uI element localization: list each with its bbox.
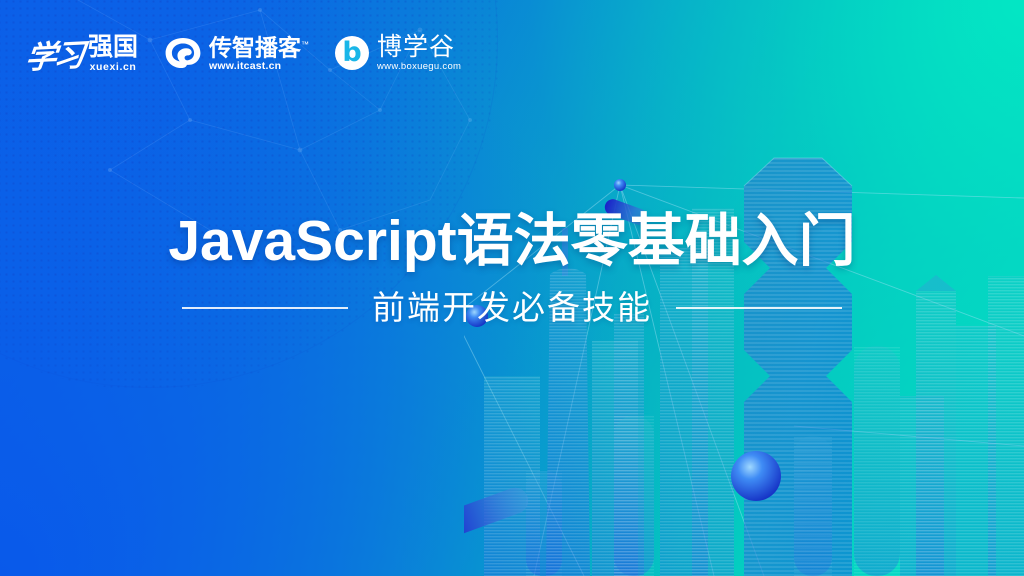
- page-title: JavaScript语法零基础入门: [0, 206, 1024, 276]
- rule-left: [182, 307, 348, 309]
- page-subtitle: 前端开发必备技能: [372, 286, 652, 330]
- partner-logo-bar: 学习 强国 xuexi.cn 传智播客™ www.itcast.cn b 博学谷…: [26, 24, 461, 82]
- xuexi-logo-icon: 学习: [23, 29, 84, 77]
- subtitle-row: 前端开发必备技能: [0, 286, 1024, 330]
- xuexi-bold-text: 强国: [88, 34, 138, 60]
- boxuegu-name: 博学谷: [377, 34, 461, 60]
- boxuegu-b-icon: b: [335, 36, 369, 70]
- xuexi-url: xuexi.cn: [90, 61, 137, 73]
- headline-block: JavaScript语法零基础入门 前端开发必备技能: [0, 206, 1024, 330]
- itcast-trademark: ™: [301, 40, 309, 49]
- rule-right: [676, 307, 842, 309]
- slide-canvas: 学习 强国 xuexi.cn 传智播客™ www.itcast.cn b 博学谷…: [0, 0, 1024, 576]
- boxuegu-url: www.boxuegu.com: [377, 61, 461, 73]
- itcast-name: 传智播客™: [209, 33, 309, 60]
- itcast-swirl-icon: [164, 36, 202, 70]
- logo-boxuegu[interactable]: b 博学谷 www.boxuegu.com: [335, 24, 461, 82]
- itcast-url: www.itcast.cn: [209, 60, 309, 73]
- logo-itcast[interactable]: 传智播客™ www.itcast.cn: [164, 24, 309, 82]
- logo-xuexi-qiangguo[interactable]: 学习 强国 xuexi.cn: [26, 24, 138, 82]
